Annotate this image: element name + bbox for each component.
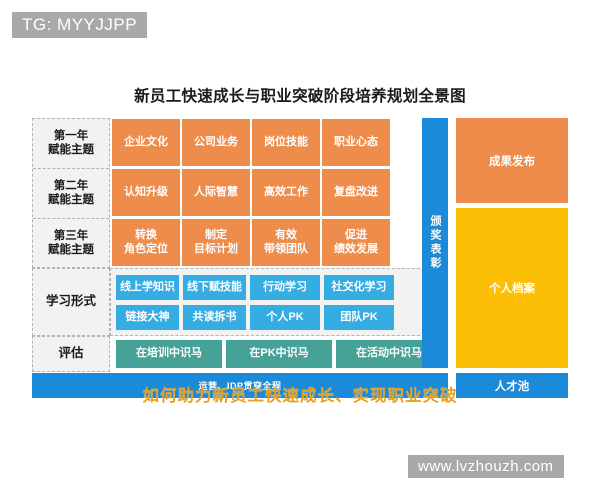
cell-learning-connect-expert[interactable]: 链接大神 xyxy=(116,305,179,330)
cell-learning-social[interactable]: 社交化学习 xyxy=(324,275,394,300)
infographic-board: 第一年 赋能主题 第二年 赋能主题 第三年 赋能主题 学习形式 评估 企业文化 … xyxy=(32,118,568,398)
award-recognition-strip[interactable]: 颁奖表彰 xyxy=(422,118,448,368)
cell-learning-offline-skill[interactable]: 线下赋技能 xyxy=(183,275,246,300)
cell-year3-4-line1: 促进 xyxy=(345,229,367,241)
cell-eval-pk[interactable]: 在PK中识马 xyxy=(226,340,332,368)
row-label-evaluation-text: 评估 xyxy=(58,346,83,362)
cell-learning-online-knowledge[interactable]: 线上学知识 xyxy=(116,275,179,300)
cell-year1-3[interactable]: 岗位技能 xyxy=(252,119,320,166)
cell-learning-action[interactable]: 行动学习 xyxy=(250,275,320,300)
row-label-year2: 第二年 赋能主题 xyxy=(32,168,110,218)
row-label-year3-line2: 赋能主题 xyxy=(48,244,94,256)
cell-year2-1[interactable]: 认知升级 xyxy=(112,169,180,216)
telegram-watermark-badge: TG: MYYJJPP xyxy=(12,12,147,38)
cell-year2-2[interactable]: 人际智慧 xyxy=(182,169,250,216)
site-watermark: www.lvzhouzh.com xyxy=(408,455,564,478)
cell-year2-4[interactable]: 复盘改进 xyxy=(322,169,390,216)
cell-year3-4[interactable]: 促进 绩效发展 xyxy=(322,219,390,266)
row-label-year3: 第三年 赋能主题 xyxy=(32,218,110,268)
page-title: 新员工快速成长与职业突破阶段培养规划全景图 xyxy=(0,84,600,106)
cell-year2-3[interactable]: 高效工作 xyxy=(252,169,320,216)
cell-year3-3[interactable]: 有效 带领团队 xyxy=(252,219,320,266)
row-label-year1: 第一年 赋能主题 xyxy=(32,118,110,168)
row-label-year3-line1: 第三年 xyxy=(54,230,89,242)
block-personal-archive[interactable]: 个人档案 xyxy=(456,208,568,368)
cell-year3-1[interactable]: 转换 角色定位 xyxy=(112,219,180,266)
row-label-year1-line2: 赋能主题 xyxy=(48,144,94,156)
row-label-year2-line1: 第二年 xyxy=(54,180,89,192)
cell-year1-2[interactable]: 公司业务 xyxy=(182,119,250,166)
cell-year3-2[interactable]: 制定 目标计划 xyxy=(182,219,250,266)
cell-learning-team-pk[interactable]: 团队PK xyxy=(324,305,394,330)
cell-year1-4[interactable]: 职业心态 xyxy=(322,119,390,166)
cell-year3-4-line2: 绩效发展 xyxy=(334,243,378,255)
slogan-overlay: 如何助力新员工快速成长、实现职业突破 xyxy=(100,382,500,406)
cell-learning-personal-pk[interactable]: 个人PK xyxy=(250,305,320,330)
row-label-learning: 学习形式 xyxy=(32,268,110,336)
row-label-year1-line1: 第一年 xyxy=(54,130,89,142)
row-label-year2-line2: 赋能主题 xyxy=(48,194,94,206)
cell-eval-training[interactable]: 在培训中识马 xyxy=(116,340,222,368)
cell-year3-1-line2: 角色定位 xyxy=(124,243,168,255)
cell-year3-2-line2: 目标计划 xyxy=(194,243,238,255)
row-label-learning-text: 学习形式 xyxy=(46,294,96,310)
cell-year3-3-line2: 带领团队 xyxy=(264,243,308,255)
row-label-evaluation: 评估 xyxy=(32,336,110,372)
block-result-release[interactable]: 成果发布 xyxy=(456,118,568,203)
cell-year1-1[interactable]: 企业文化 xyxy=(112,119,180,166)
cell-year3-2-line1: 制定 xyxy=(205,229,227,241)
cell-year3-1-line1: 转换 xyxy=(135,229,157,241)
cell-learning-book-club[interactable]: 共读拆书 xyxy=(183,305,246,330)
cell-year3-3-line1: 有效 xyxy=(275,229,297,241)
